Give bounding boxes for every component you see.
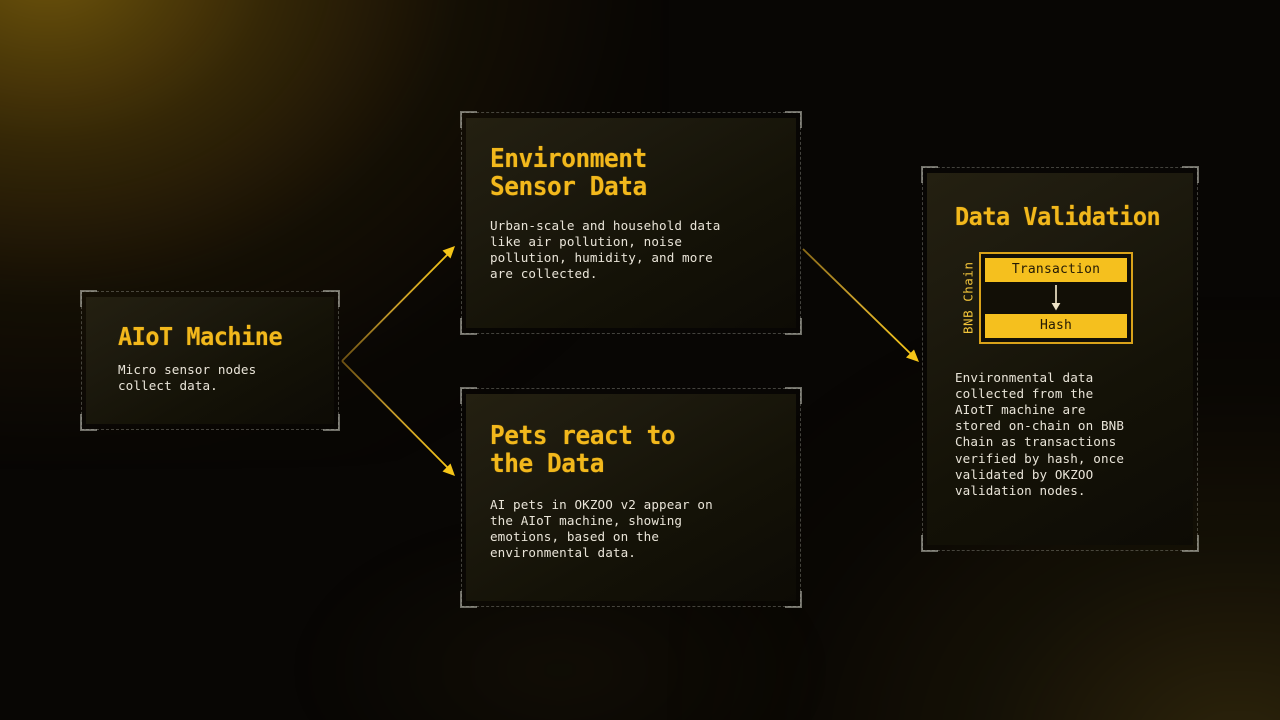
card-body: AIoT Machine Micro sensor nodes collect … [86,297,334,424]
card-description: AI pets in OKZOO v2 appear on the AIoT m… [490,497,796,561]
card-aiot-machine[interactable]: AIoT Machine Micro sensor nodes collect … [81,291,339,430]
card-pets-react-to-the-data[interactable]: Pets react to the Data AI pets in OKZOO … [461,388,801,607]
chip-transaction: Transaction [985,258,1127,282]
bnb-chain-diagram: BNB Chain Transaction Hash [955,252,1133,344]
bnb-chain-label: BNB Chain [955,252,979,344]
card-title: AIoT Machine [118,323,321,350]
card-data-validation[interactable]: Data Validation BNB Chain Transaction Ha… [922,167,1198,551]
card-title: Data Validation [955,203,1179,230]
card-title: Environment Sensor Data [490,145,778,201]
card-body: Environment Sensor Data Urban-scale and … [466,118,796,328]
card-body: Pets react to the Data AI pets in OKZOO … [466,394,796,601]
card-description: Environmental data collected from the AI… [955,370,1193,499]
arrow-environment-to-validation [803,249,919,362]
arrow-aiot-to-environment [342,246,455,361]
chip-hash: Hash [985,314,1127,338]
card-body: Data Validation BNB Chain Transaction Ha… [927,173,1193,545]
chain-arrow-down-icon [985,282,1127,314]
chain-flow-container: Transaction Hash [979,252,1133,344]
card-description: Micro sensor nodes collect data. [118,362,334,394]
card-environment-sensor-data[interactable]: Environment Sensor Data Urban-scale and … [461,112,801,334]
card-description: Urban-scale and household data like air … [490,218,796,282]
diagram-canvas: AIoT Machine Micro sensor nodes collect … [0,0,1280,720]
arrow-aiot-to-pets [342,361,455,476]
card-title: Pets react to the Data [490,422,778,478]
